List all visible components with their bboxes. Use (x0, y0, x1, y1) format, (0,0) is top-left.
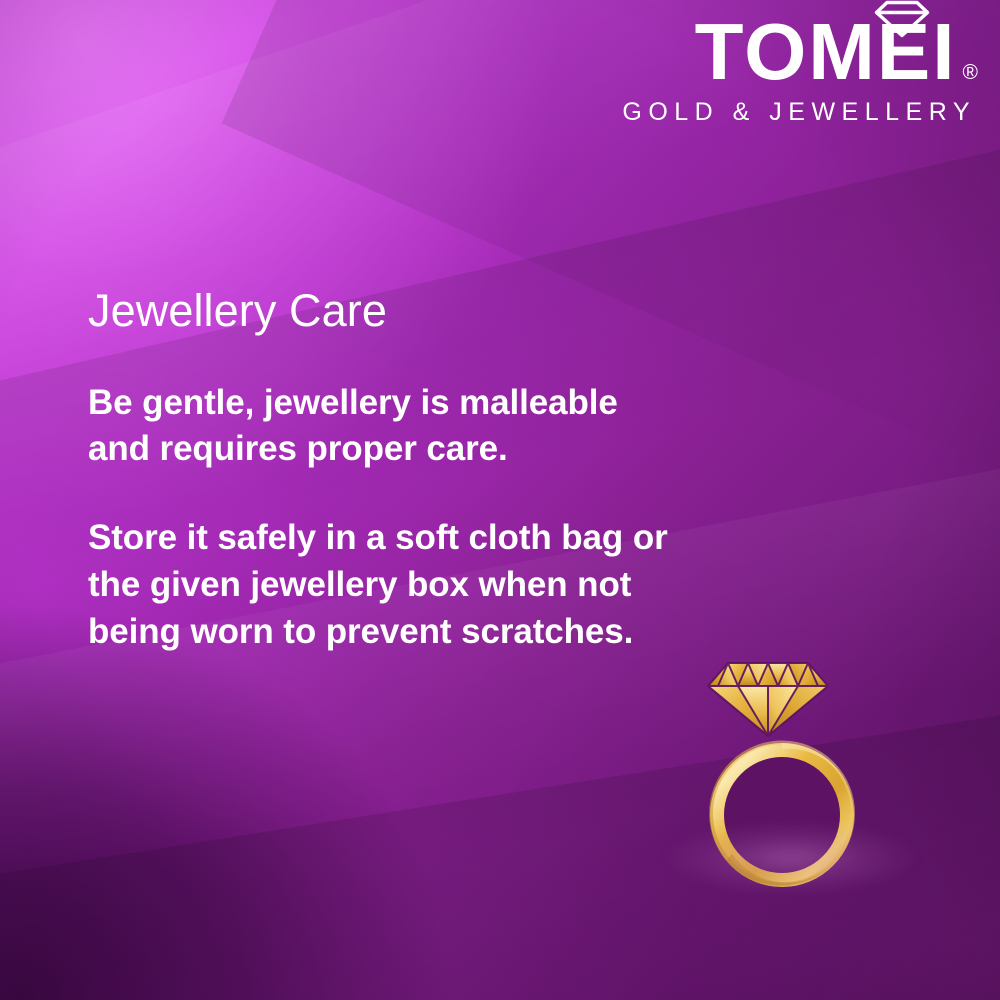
registered-trademark-icon: ® (963, 62, 978, 83)
diamond-ring-illustration (696, 648, 886, 908)
page-title: Jewellery Care (88, 286, 668, 336)
brilliant-cut-diamond (708, 663, 828, 736)
floor-glow (626, 810, 956, 906)
care-paragraph-2: Store it safely in a soft cloth bag or t… (88, 515, 668, 656)
brand-logo: TOMEI ® GOLD & JEWELLERY (622, 14, 978, 125)
logo-tagline: GOLD & JEWELLERY (622, 100, 976, 125)
diamond-outline-icon (873, 0, 931, 39)
logo-wordmark-row: TOMEI ® (622, 14, 978, 91)
copy-block: Jewellery Care Be gentle, jewellery is m… (88, 286, 668, 656)
care-paragraph-1: Be gentle, jewellery is malleable and re… (88, 380, 668, 474)
jewellery-care-poster: TOMEI ® GOLD & JEWELLERY Jewellery Care … (0, 0, 1000, 1000)
